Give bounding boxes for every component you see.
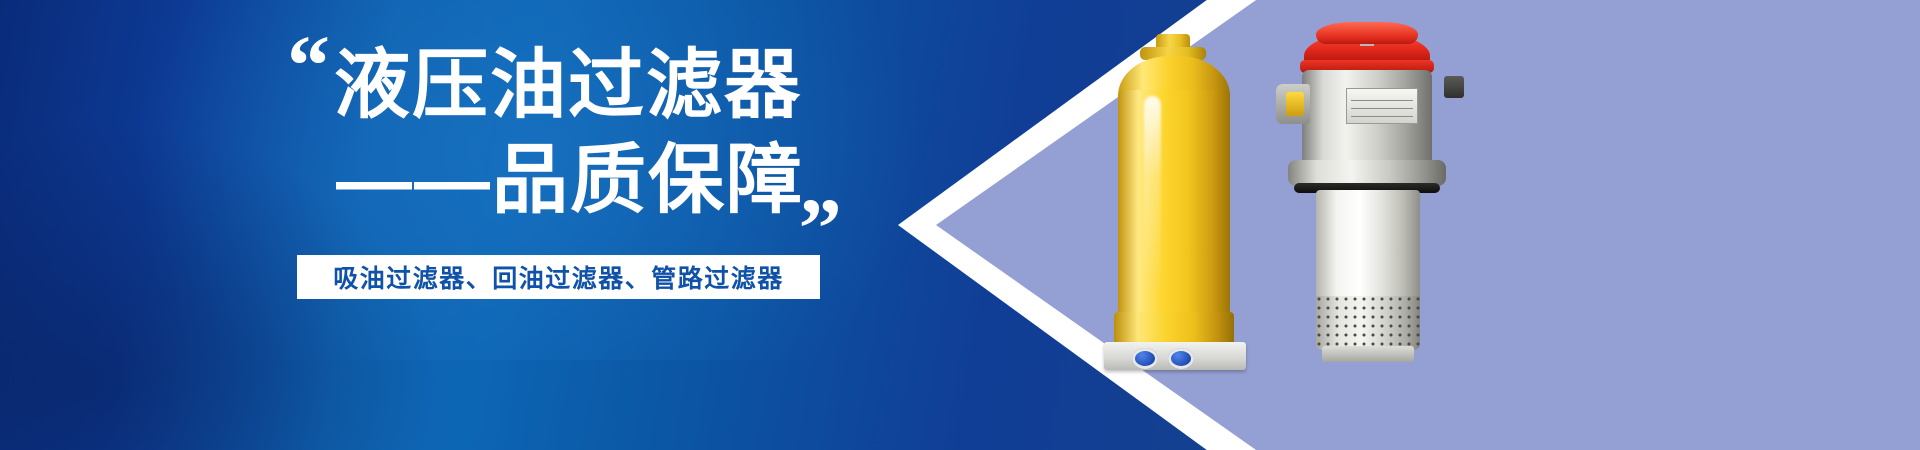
product-showcase <box>1040 0 1920 450</box>
yellow-filter-body <box>1118 90 1230 320</box>
nameplate-line-2 <box>1351 108 1413 109</box>
suction-filter-mesh-screen <box>1316 296 1420 350</box>
promo-banner: “ 液压油过滤器 ——品质保障 “ 吸油过滤器、回油过滤器、管路过滤器 <box>0 0 1920 450</box>
suction-filter-right-port <box>1444 76 1464 98</box>
headline-line-1: 液压油过滤器 <box>334 48 802 124</box>
subtitle-text: 吸油过滤器、回油过滤器、管路过滤器 <box>333 259 784 295</box>
product-yellow-return-line-filter <box>1110 34 1240 370</box>
yellow-filter-port-left <box>1132 348 1158 369</box>
suction-filter-nameplate <box>1346 88 1418 124</box>
yellow-filter-port-right <box>1168 348 1194 369</box>
headline-line-2: ——品质保障 <box>334 143 804 219</box>
nameplate-line-1 <box>1351 100 1413 101</box>
product-gray-suction-filter <box>1282 20 1452 368</box>
suction-filter-red-cap-top <box>1316 22 1418 44</box>
subtitle-badge: 吸油过滤器、回油过滤器、管路过滤器 <box>297 255 820 299</box>
banner-text-block: “ 液压油过滤器 ——品质保障 “ 吸油过滤器、回油过滤器、管路过滤器 <box>0 0 900 450</box>
suction-filter-foot <box>1322 346 1414 362</box>
opening-quote-mark: “ <box>287 22 326 108</box>
suction-filter-side-port <box>1276 84 1310 124</box>
closing-quote-mark: “ <box>803 155 842 241</box>
nameplate-line-3 <box>1351 116 1413 117</box>
yellow-filter-highlight <box>1144 96 1161 296</box>
